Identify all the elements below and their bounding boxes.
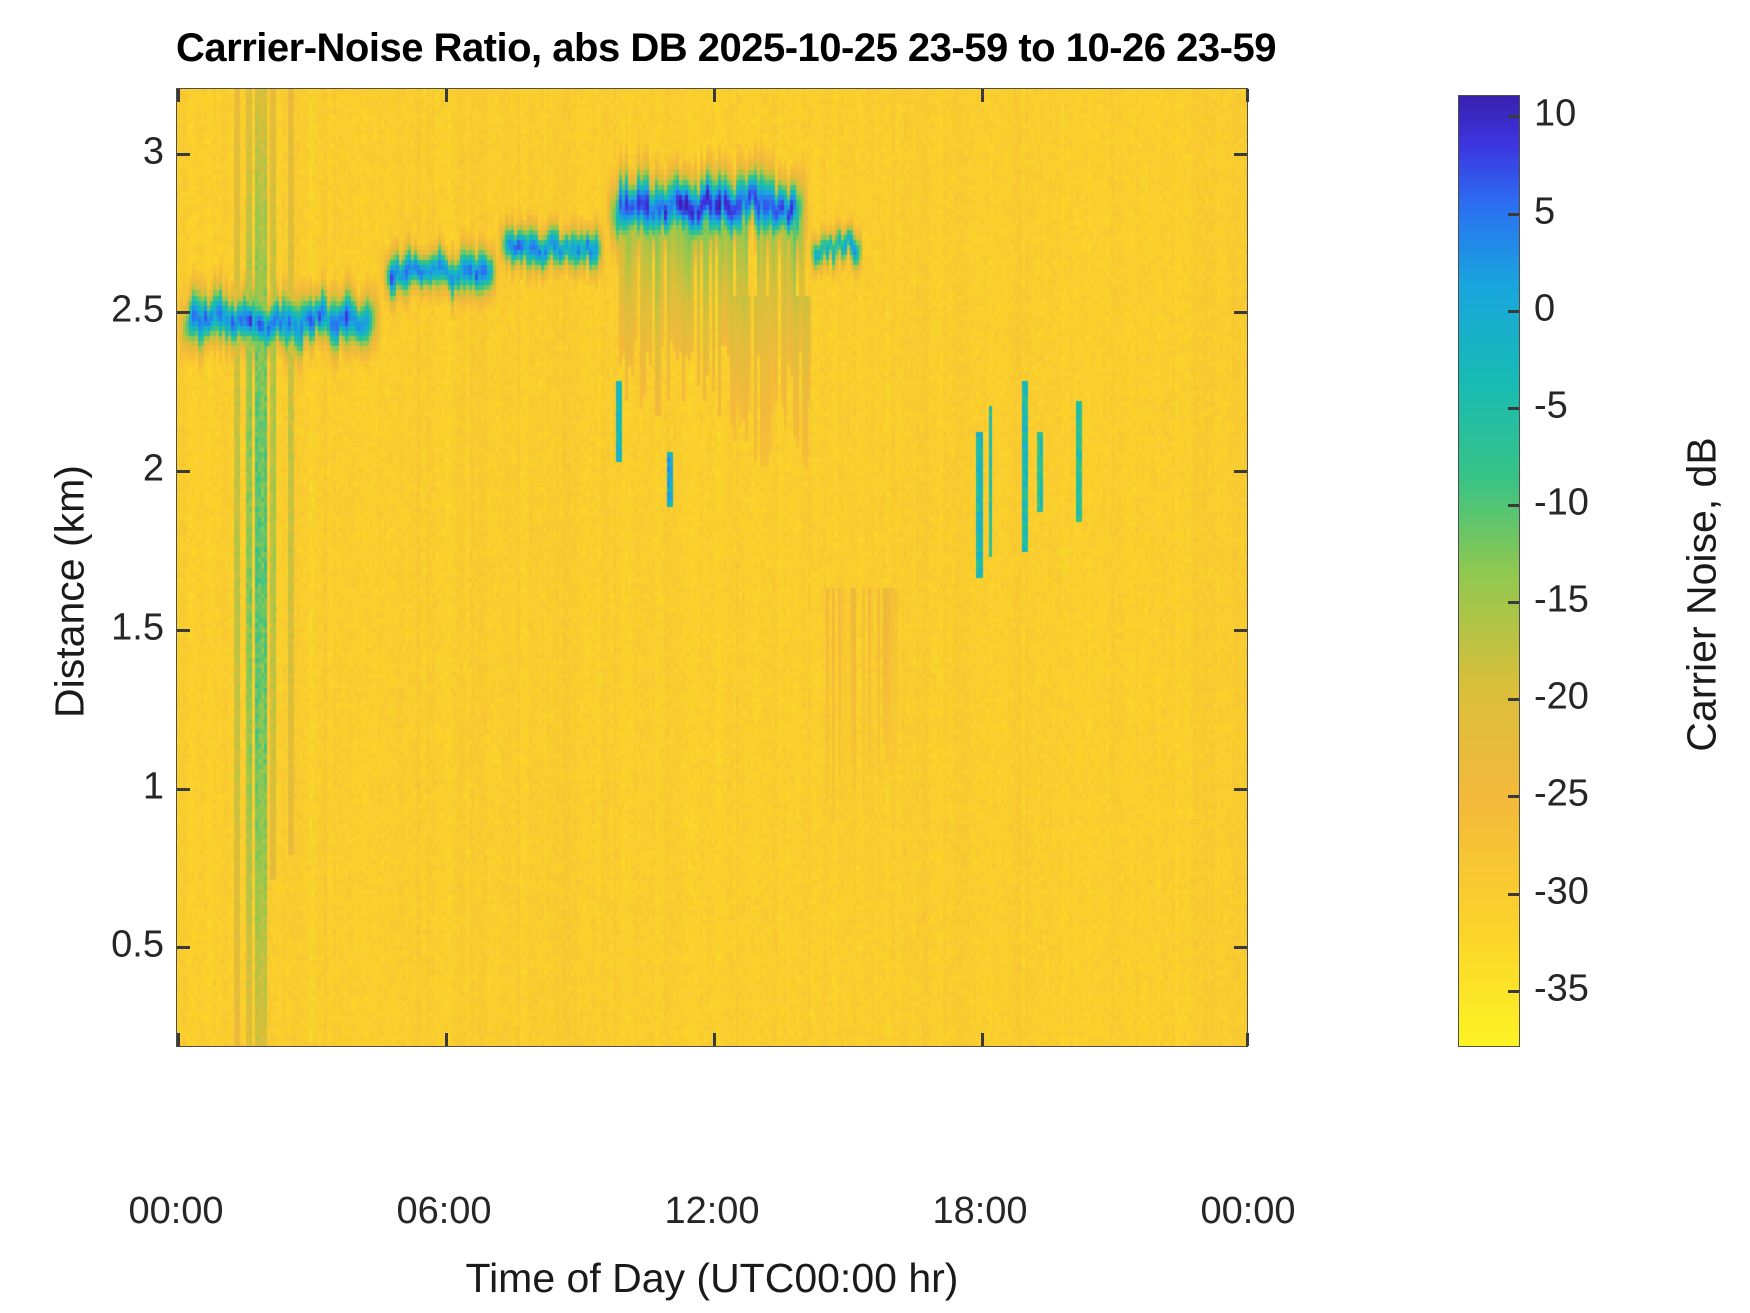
colorbar-tick-mark [1508, 990, 1519, 993]
y-tick-mark [177, 470, 190, 473]
colorbar-tick-label: -10 [1534, 482, 1589, 525]
x-tick-mark [445, 89, 448, 102]
x-tick-mark [713, 89, 716, 102]
y-tick-mark [1234, 311, 1247, 314]
x-tick-label: 00:00 [128, 1190, 223, 1233]
y-tick-mark [177, 788, 190, 791]
plot-axes [176, 88, 1248, 1047]
y-tick-label: 1 [143, 765, 164, 808]
y-tick-label: 1.5 [111, 606, 164, 649]
y-tick-mark [1234, 153, 1247, 156]
colorbar-tick-mark [1508, 407, 1519, 410]
colorbar-tick-mark [1508, 795, 1519, 798]
x-axis-title: Time of Day (UTC00:00 hr) [176, 1255, 1248, 1302]
colorbar-tick-mark [1508, 504, 1519, 507]
y-tick-mark [1234, 629, 1247, 632]
colorbar-tick-label: -20 [1534, 676, 1589, 719]
chart-title: Carrier-Noise Ratio, abs DB 2025-10-25 2… [176, 26, 1248, 71]
y-tick-mark [1234, 946, 1247, 949]
y-tick-label: 3 [143, 130, 164, 173]
colorbar-tick-label: -25 [1534, 773, 1589, 816]
colorbar-tick-label: 0 [1534, 287, 1555, 330]
x-tick-mark [1246, 89, 1249, 102]
y-tick-mark [177, 946, 190, 949]
x-tick-label: 00:00 [1200, 1190, 1295, 1233]
colorbar-tick-label: -15 [1534, 579, 1589, 622]
y-tick-mark [177, 629, 190, 632]
x-tick-mark [177, 1033, 180, 1046]
colorbar-tick-label: -30 [1534, 870, 1589, 913]
y-tick-mark [1234, 470, 1247, 473]
x-tick-label: 06:00 [396, 1190, 491, 1233]
colorbar-tick-mark [1508, 310, 1519, 313]
figure-container: Carrier-Noise Ratio, abs DB 2025-10-25 2… [0, 0, 1750, 1313]
y-tick-label: 2.5 [111, 289, 164, 332]
y-tick-label: 2 [143, 448, 164, 491]
y-tick-label: 0.5 [111, 924, 164, 967]
colorbar-tick-mark [1508, 115, 1519, 118]
y-tick-mark [1234, 788, 1247, 791]
colorbar-tick-label: -35 [1534, 967, 1589, 1010]
x-tick-mark [981, 89, 984, 102]
x-tick-label: 12:00 [664, 1190, 759, 1233]
x-tick-mark [1246, 1033, 1249, 1046]
colorbar-tick-label: 5 [1534, 190, 1555, 233]
colorbar [1458, 95, 1520, 1047]
colorbar-title: Carrier Noise, dB [1679, 285, 1726, 905]
heatmap-image [177, 89, 1247, 1046]
y-axis-title: Distance (km) [47, 212, 94, 972]
colorbar-tick-mark [1508, 893, 1519, 896]
colorbar-tick-mark [1508, 698, 1519, 701]
colorbar-tick-label: -5 [1534, 384, 1568, 427]
y-tick-mark [177, 153, 190, 156]
x-tick-label: 18:00 [932, 1190, 1027, 1233]
x-tick-mark [445, 1033, 448, 1046]
x-tick-mark [981, 1033, 984, 1046]
colorbar-tick-mark [1508, 213, 1519, 216]
colorbar-tick-label: 10 [1534, 93, 1576, 136]
x-tick-mark [177, 89, 180, 102]
colorbar-gradient [1459, 96, 1519, 1046]
colorbar-tick-mark [1508, 601, 1519, 604]
x-tick-mark [713, 1033, 716, 1046]
y-tick-mark [177, 311, 190, 314]
